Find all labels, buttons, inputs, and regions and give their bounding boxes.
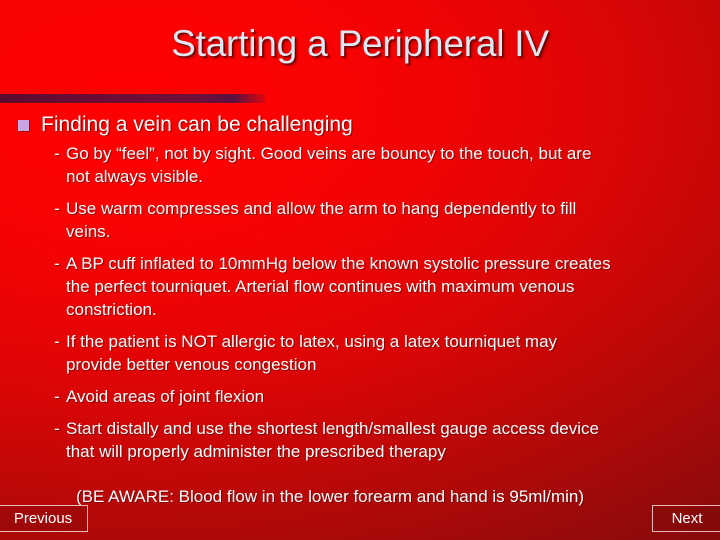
dash-marker-icon: - bbox=[54, 385, 60, 408]
list-item: - If the patient is NOT allergic to late… bbox=[0, 330, 720, 376]
list-item: - Use warm compresses and allow the arm … bbox=[0, 197, 720, 243]
previous-button[interactable]: Previous bbox=[0, 505, 88, 532]
list-item-line: the perfect tourniquet. Arterial flow co… bbox=[66, 275, 698, 298]
awareness-note-row: (BE AWARE: Blood flow in the lower forea… bbox=[0, 485, 720, 508]
awareness-note-label: (BE AWARE: Blood flow in the lower forea… bbox=[76, 487, 584, 506]
list-item-line: Avoid areas of joint flexion bbox=[66, 385, 698, 408]
list-item-label: Use warm compresses and allow the arm to… bbox=[54, 197, 698, 243]
dash-marker-icon: - bbox=[54, 142, 60, 165]
list-item-line: provide better venous congestion bbox=[66, 353, 698, 376]
slide-body: Finding a vein can be challenging - Go b… bbox=[0, 112, 720, 508]
dash-marker-icon: - bbox=[54, 252, 60, 275]
title-area: Starting a Peripheral IV bbox=[0, 22, 720, 66]
list-item-line: that will properly administer the prescr… bbox=[66, 440, 698, 463]
list-item-label: A BP cuff inflated to 10mmHg below the k… bbox=[54, 252, 698, 321]
square-bullet-icon bbox=[18, 120, 29, 131]
list-item-line: not always visible. bbox=[66, 165, 698, 188]
bullet-heading-row: Finding a vein can be challenging bbox=[0, 112, 720, 138]
list-item-line: veins. bbox=[66, 220, 698, 243]
list-item-line: A BP cuff inflated to 10mmHg below the k… bbox=[66, 252, 698, 275]
list-item-label: Start distally and use the shortest leng… bbox=[54, 417, 698, 463]
dash-marker-icon: - bbox=[54, 417, 60, 440]
dash-marker-icon: - bbox=[54, 330, 60, 353]
page-title: Starting a Peripheral IV bbox=[171, 22, 549, 66]
list-item-line: If the patient is NOT allergic to latex,… bbox=[66, 330, 698, 353]
list-item-line: constriction. bbox=[66, 298, 698, 321]
list-item-line: Start distally and use the shortest leng… bbox=[66, 417, 698, 440]
list-item-label: Go by “feel”, not by sight. Good veins a… bbox=[54, 142, 698, 188]
list-item-line: Use warm compresses and allow the arm to… bbox=[66, 197, 698, 220]
list-item: - Start distally and use the shortest le… bbox=[0, 417, 720, 463]
dash-marker-icon: - bbox=[54, 197, 60, 220]
title-divider-bar bbox=[0, 94, 266, 103]
list-item-label: If the patient is NOT allergic to latex,… bbox=[54, 330, 698, 376]
list-item-line: Go by “feel”, not by sight. Good veins a… bbox=[66, 142, 698, 165]
list-item-label: Avoid areas of joint flexion bbox=[54, 385, 698, 408]
list-item: - Go by “feel”, not by sight. Good veins… bbox=[0, 142, 720, 188]
bullet-heading-label: Finding a vein can be challenging bbox=[41, 112, 353, 138]
slide-canvas: Starting a Peripheral IV Finding a vein … bbox=[0, 0, 720, 540]
next-button[interactable]: Next bbox=[652, 505, 720, 532]
list-item: - A BP cuff inflated to 10mmHg below the… bbox=[0, 252, 720, 321]
list-item: - Avoid areas of joint flexion bbox=[0, 385, 720, 408]
